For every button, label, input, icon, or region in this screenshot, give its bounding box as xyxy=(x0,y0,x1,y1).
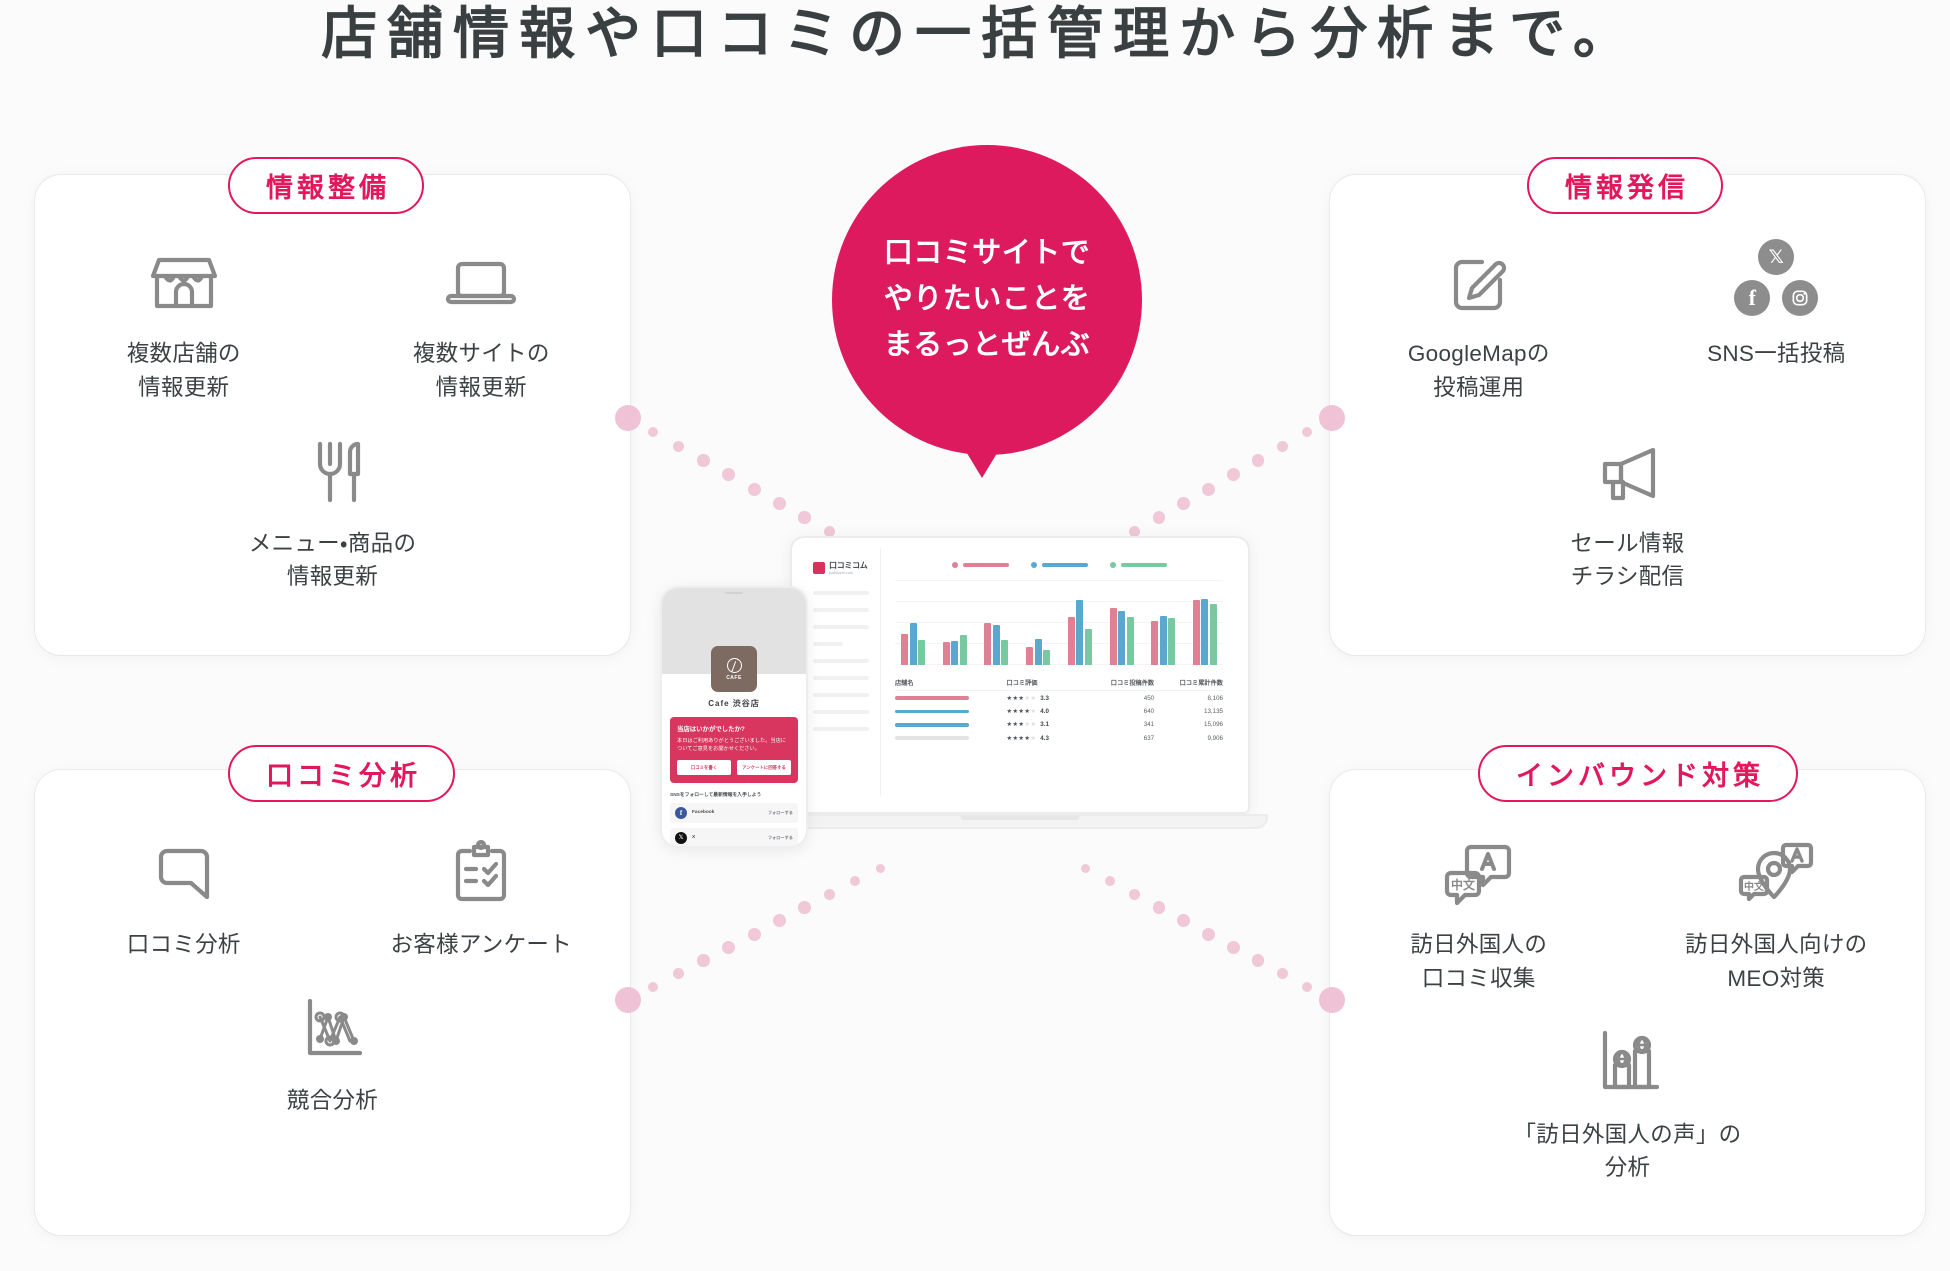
chart-legend xyxy=(895,562,1223,568)
total-count: 8,106 xyxy=(1154,695,1223,702)
brand-name: 口コミコム xyxy=(829,560,868,571)
connector-dot xyxy=(673,968,684,979)
rating-score: 4.3 xyxy=(1040,735,1049,742)
logo-mark xyxy=(813,562,825,574)
table-row[interactable]: ★★★★★4.064013,135 xyxy=(895,705,1223,718)
col-total: 口コミ累計件数 xyxy=(1154,678,1223,687)
bar xyxy=(1068,617,1075,665)
total-count: 9,906 xyxy=(1154,735,1223,742)
bar-group xyxy=(1026,639,1050,665)
sidebar-item[interactable] xyxy=(813,727,869,731)
bar-group xyxy=(1110,608,1134,665)
survey-title: 当店はいかがでしたか? xyxy=(677,724,791,733)
bar xyxy=(1035,639,1042,665)
bar xyxy=(1160,616,1167,665)
bar xyxy=(993,625,1000,665)
bar xyxy=(1168,618,1175,665)
posts-count: 637 xyxy=(1085,735,1154,742)
rating-score: 3.1 xyxy=(1040,721,1049,728)
connector-dot xyxy=(773,914,786,927)
store-name-bar xyxy=(895,723,1007,727)
connector-dot xyxy=(1202,483,1215,496)
bar-chart xyxy=(895,580,1223,665)
follow-row-x[interactable]: 𝕏 X フォローする xyxy=(670,828,798,848)
connector-dot xyxy=(1277,968,1288,979)
bar xyxy=(1193,600,1200,665)
connector-dot xyxy=(798,901,810,913)
sidebar-item[interactable] xyxy=(813,710,869,714)
connector-dot xyxy=(1153,901,1165,913)
survey-card: 当店はいかがでしたか? 本日はご利用ありがとうございました。当店についてご意見を… xyxy=(670,717,798,783)
phone-shop-name: Cafe 渋谷店 xyxy=(662,698,806,709)
rating-cell: ★★★★★4.0 xyxy=(1007,708,1086,715)
follow-heading: SNSをフォローして最新情報を入手しよう xyxy=(670,791,798,798)
phone-mockup: CAFE Cafe 渋谷店 当店はいかがでしたか? 本日はご利用ありがとうござい… xyxy=(660,586,808,848)
answer-survey-button[interactable]: アンケートに回答する xyxy=(737,760,791,775)
bar xyxy=(1127,617,1134,665)
bar xyxy=(1001,640,1008,666)
connector-dot xyxy=(748,928,761,941)
legend-item xyxy=(952,562,1009,568)
sidebar-item[interactable] xyxy=(813,608,869,612)
connector-node xyxy=(615,987,641,1013)
laptop-screen: 口コミコム kuchikomi.com xyxy=(803,548,1237,796)
col-rating: 口コミ評価 xyxy=(1007,678,1086,687)
connector-node xyxy=(1319,405,1345,431)
connector-dot xyxy=(697,954,709,966)
rating-score: 3.3 xyxy=(1040,695,1049,702)
center-bubble: 口コミサイトで やりたいことを まるっとぜんぶ xyxy=(832,145,1142,455)
write-review-button[interactable]: 口コミを書く xyxy=(677,760,731,775)
connector-dot xyxy=(1277,441,1288,452)
legend-dot xyxy=(1110,562,1116,568)
legend-bar xyxy=(1042,563,1088,568)
col-store-name: 店舗名 xyxy=(895,678,1007,687)
bar-group xyxy=(984,623,1008,666)
bar xyxy=(1026,647,1033,665)
facebook-icon: f xyxy=(675,807,687,819)
bar-group xyxy=(1151,616,1175,665)
social-name: X xyxy=(692,835,763,840)
avatar-label: CAFE xyxy=(726,675,742,681)
bar xyxy=(1085,629,1092,665)
bar xyxy=(1076,600,1083,665)
bar-group xyxy=(1068,600,1092,665)
connector-dot xyxy=(722,941,735,954)
connector-dot xyxy=(1227,468,1240,481)
table-body: ★★★★★3.34508,106★★★★★4.064013,135★★★★★3.… xyxy=(895,691,1223,745)
sidebar-item[interactable] xyxy=(813,676,869,680)
connector-dot xyxy=(850,876,860,886)
connector-dot xyxy=(1105,876,1115,886)
connector-dot xyxy=(1202,928,1215,941)
phone-hero: CAFE xyxy=(662,588,806,674)
legend-item xyxy=(1031,562,1088,568)
table-row[interactable]: ★★★★★3.134115,096 xyxy=(895,718,1223,731)
posts-count: 341 xyxy=(1085,721,1154,728)
posts-count: 640 xyxy=(1085,708,1154,715)
chart-bars xyxy=(901,580,1217,665)
survey-buttons: 口コミを書く アンケートに回答する xyxy=(677,760,791,775)
bar xyxy=(910,623,917,666)
total-count: 15,096 xyxy=(1154,721,1223,728)
table-row[interactable]: ★★★★★4.36379,906 xyxy=(895,732,1223,745)
bar xyxy=(1118,611,1125,665)
store-name-bar xyxy=(895,736,1007,740)
bar xyxy=(951,641,958,665)
legend-bar xyxy=(1121,563,1167,568)
laptop: 口コミコム kuchikomi.com xyxy=(790,536,1250,814)
bar xyxy=(1151,621,1158,665)
star-rating: ★★★★★ xyxy=(1007,721,1037,728)
follow-row-facebook[interactable]: f Facebook フォローする xyxy=(670,803,798,823)
brand-sub: kuchikomi.com xyxy=(829,571,868,575)
phone-status-bar xyxy=(662,588,806,597)
connector-dot xyxy=(876,864,885,873)
bar xyxy=(901,634,908,665)
infographic-stage: 店舗情報や口コミの一括管理から分析まで。 情報整備 複数店舗の 情報更新 xyxy=(0,0,1950,1271)
legend-dot xyxy=(1031,562,1037,568)
bar xyxy=(960,635,967,665)
follow-action[interactable]: フォローする xyxy=(768,810,793,816)
bar-group xyxy=(943,635,967,665)
bar xyxy=(1201,599,1208,665)
badge-inbound-taisaku: インバウンド対策 xyxy=(1478,745,1798,802)
social-name: Facebook xyxy=(692,810,763,815)
connector-dot xyxy=(1252,454,1264,466)
connector-node xyxy=(615,405,641,431)
connector-dot xyxy=(1081,864,1090,873)
connector-dot xyxy=(648,982,658,992)
survey-body: 本日はご利用ありがとうございました。当店についてご意見をお聞かせください。 xyxy=(677,737,791,753)
shop-avatar: CAFE xyxy=(711,646,757,692)
posts-count: 450 xyxy=(1085,695,1154,702)
connector-dot xyxy=(697,454,709,466)
badge-kuchikomi-bunseki: 口コミ分析 xyxy=(228,745,455,802)
bar xyxy=(984,623,991,666)
table-row[interactable]: ★★★★★3.34508,106 xyxy=(895,691,1223,704)
star-rating: ★★★★★ xyxy=(1007,695,1037,702)
store-name-bar xyxy=(895,710,1007,714)
laptop-notch xyxy=(960,815,1080,820)
connector-dot xyxy=(1129,889,1140,900)
legend-dot xyxy=(952,562,958,568)
bar xyxy=(1043,650,1050,665)
badge-joho-seibi: 情報整備 xyxy=(228,157,424,214)
dashboard-sidebar: 口コミコム kuchikomi.com xyxy=(803,548,881,796)
connector-dot xyxy=(798,511,810,523)
coffee-bean-icon xyxy=(727,658,742,673)
connector-node xyxy=(1319,987,1345,1013)
connector-dot xyxy=(1302,427,1312,437)
connector-dot xyxy=(1302,982,1312,992)
stores-table: 店舗名 口コミ評価 口コミ投稿件数 口コミ累計件数 ★★★★★3.34508,1… xyxy=(895,675,1223,745)
table-header-row: 店舗名 口コミ評価 口コミ投稿件数 口コミ累計件数 xyxy=(895,675,1223,691)
connector-dot xyxy=(1177,914,1190,927)
connector-dot xyxy=(824,889,835,900)
connector-dot xyxy=(1177,497,1190,510)
connector-dot xyxy=(673,441,684,452)
sidebar-item[interactable] xyxy=(813,642,843,646)
legend-bar xyxy=(963,563,1009,568)
star-rating: ★★★★★ xyxy=(1007,735,1037,742)
bar xyxy=(943,642,950,665)
col-posts: 口コミ投稿件数 xyxy=(1085,678,1154,687)
connector-dot xyxy=(748,483,761,496)
device-mockup: 口コミコム kuchikomi.com xyxy=(660,528,1300,858)
bubble-text: 口コミサイトで やりたいことを まるっとぜんぶ xyxy=(884,231,1091,368)
connector-dot xyxy=(722,468,735,481)
connector-dot xyxy=(773,497,786,510)
star-rating: ★★★★★ xyxy=(1007,708,1037,715)
bar xyxy=(918,640,925,666)
rating-cell: ★★★★★3.1 xyxy=(1007,721,1086,728)
rating-score: 4.0 xyxy=(1040,708,1049,715)
connector-dot xyxy=(1153,511,1165,523)
rating-cell: ★★★★★3.3 xyxy=(1007,695,1086,702)
connector-dot xyxy=(648,427,658,437)
sidebar-item[interactable] xyxy=(813,693,869,697)
connector-dot xyxy=(1252,954,1264,966)
brand-logo: 口コミコム kuchikomi.com xyxy=(813,560,870,575)
bar-group xyxy=(1193,599,1217,665)
bar xyxy=(1210,604,1217,665)
sidebar-item[interactable] xyxy=(813,591,869,595)
legend-item xyxy=(1110,562,1167,568)
bar-group xyxy=(901,623,925,666)
rating-cell: ★★★★★4.3 xyxy=(1007,735,1086,742)
connector-dot xyxy=(1227,941,1240,954)
dashboard-main: 店舗名 口コミ評価 口コミ投稿件数 口コミ累計件数 ★★★★★3.34508,1… xyxy=(881,548,1237,796)
x-icon: 𝕏 xyxy=(675,832,687,844)
sidebar-item[interactable] xyxy=(813,659,869,663)
total-count: 13,135 xyxy=(1154,708,1223,715)
follow-action[interactable]: フォローする xyxy=(768,835,793,841)
sidebar-item[interactable] xyxy=(813,625,869,629)
bar xyxy=(1110,608,1117,665)
store-name-bar xyxy=(895,696,1007,700)
badge-joho-hasshin: 情報発信 xyxy=(1527,157,1723,214)
